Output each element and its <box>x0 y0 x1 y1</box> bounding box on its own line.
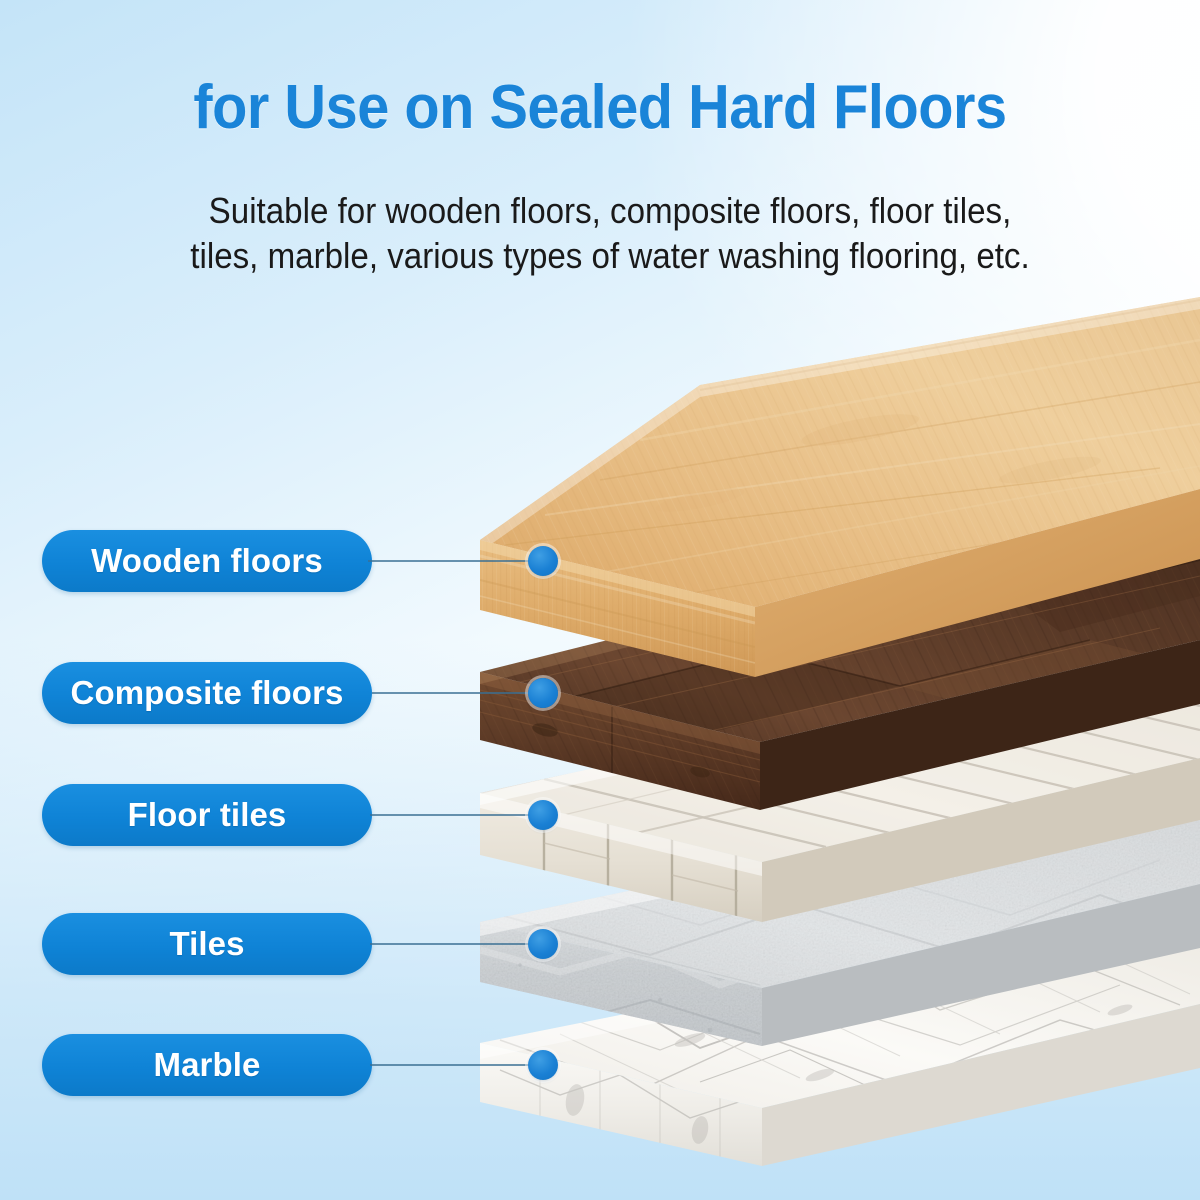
callout-dot-marble[interactable] <box>528 1050 558 1080</box>
connector-line-wooden-floors <box>368 560 538 562</box>
label-text-composite-floors: Composite floors <box>71 674 344 712</box>
page-subtitle: Suitable for wooden floors, composite fl… <box>187 188 1033 278</box>
connector-line-marble <box>370 1064 538 1066</box>
label-pill-tiles[interactable]: Tiles <box>42 913 372 975</box>
label-text-wooden-floors: Wooden floors <box>91 542 323 580</box>
label-pill-floor-tiles[interactable]: Floor tiles <box>42 784 372 846</box>
callout-dot-tiles[interactable] <box>528 929 558 959</box>
label-text-floor-tiles: Floor tiles <box>128 796 287 834</box>
connector-line-tiles <box>370 943 538 945</box>
label-pill-marble[interactable]: Marble <box>42 1034 372 1096</box>
callout-dot-floor-tiles[interactable] <box>528 800 558 830</box>
connector-line-composite-floors <box>372 692 538 694</box>
callout-dot-composite-floors[interactable] <box>528 678 558 708</box>
page-title: for Use on Sealed Hard Floors <box>42 72 1158 143</box>
label-pill-wooden-floors[interactable]: Wooden floors <box>42 530 372 592</box>
connector-line-floor-tiles <box>370 814 538 816</box>
label-pill-composite-floors[interactable]: Composite floors <box>42 662 372 724</box>
callout-dot-wooden-floors[interactable] <box>528 546 558 576</box>
exploded-flooring-stack <box>0 0 1200 1200</box>
label-text-marble: Marble <box>154 1046 261 1084</box>
label-text-tiles: Tiles <box>169 925 244 963</box>
